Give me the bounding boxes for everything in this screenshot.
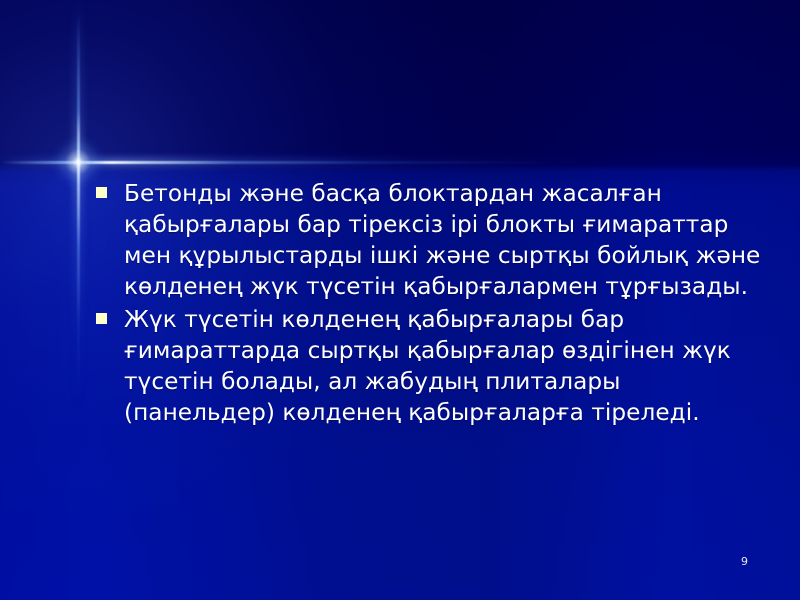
bullet-item: Бетонды және басқа блоктардан жасалған қ… xyxy=(96,178,776,302)
bullet-item-text: Жүк түсетін көлденең қабырғалары бар ғим… xyxy=(124,304,776,428)
presentation-slide: Бетонды және басқа блоктардан жасалған қ… xyxy=(0,0,800,600)
square-bullet-icon xyxy=(96,313,107,324)
square-bullet-icon xyxy=(96,187,107,198)
slide-body-content: Бетонды және басқа блоктардан жасалған қ… xyxy=(96,178,776,430)
slide-page-number: 9 xyxy=(741,556,748,567)
bullet-item-text: Бетонды және басқа блоктардан жасалған қ… xyxy=(124,178,776,302)
bullet-item: Жүк түсетін көлденең қабырғалары бар ғим… xyxy=(96,304,776,428)
